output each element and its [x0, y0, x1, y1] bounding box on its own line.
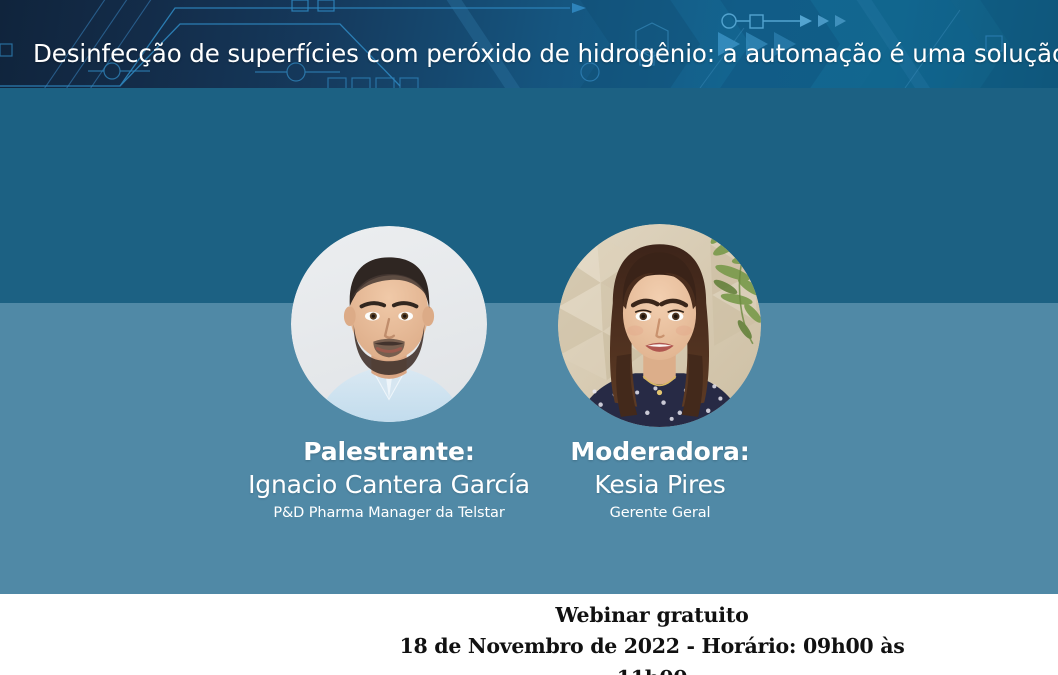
event-details: Webinar gratuito 18 de Novembro de 2022 … [362, 600, 942, 675]
speaker-job-title: P&D Pharma Manager da Telstar [215, 502, 563, 524]
speaker-photo [291, 226, 487, 422]
moderator-avatar [558, 224, 761, 427]
moderator-name: Kesia Pires [540, 468, 780, 502]
speaker-role-label: Palestrante: [215, 436, 563, 468]
event-date-time: 18 de Novembro de 2022 - Horário: 09h00 … [362, 630, 942, 675]
banner-footer: ISPE . ® Brazil Affiliate Webinar gratui… [0, 594, 1058, 675]
page-title: Desinfecção de superfícies com peróxido … [33, 39, 1058, 68]
moderator-job-title: Gerente Geral [540, 502, 780, 524]
webinar-banner: Desinfecção de superfícies com peróxido … [0, 0, 1058, 675]
moderator-role-label: Moderadora: [540, 436, 780, 468]
banner-header: Desinfecção de superfícies com peróxido … [0, 0, 1058, 88]
moderator-photo [558, 224, 761, 427]
speaker-info: Palestrante: Ignacio Cantera García P&D … [215, 436, 563, 524]
speaker-avatar [291, 226, 487, 422]
event-free-label: Webinar gratuito [362, 600, 942, 630]
background-band-upper [0, 88, 1058, 303]
speaker-name: Ignacio Cantera García [215, 468, 563, 502]
moderator-info: Moderadora: Kesia Pires Gerente Geral [540, 436, 780, 524]
